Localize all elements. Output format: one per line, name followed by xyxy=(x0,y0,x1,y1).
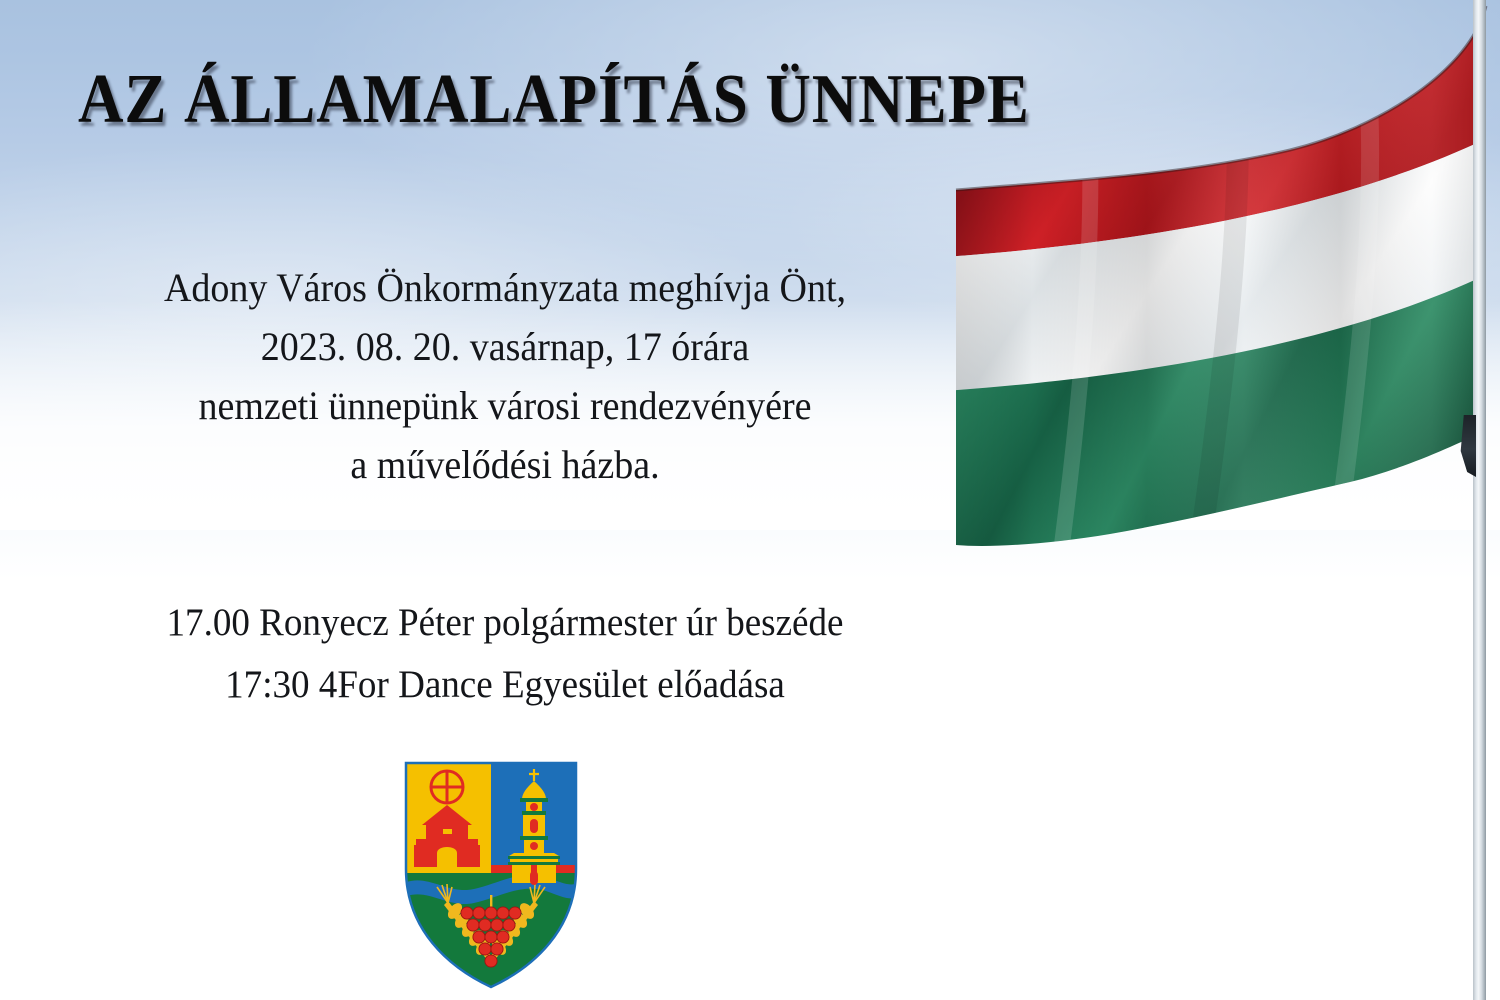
program-list: 17.00 Ronyecz Péter polgármester úr besz… xyxy=(60,592,950,716)
program-item-2: 17:30 4For Dance Egyesület előadása xyxy=(82,654,928,716)
invitation-line-3: nemzeti ünnepünk városi rendezvényére xyxy=(82,376,928,435)
wheel-cross-charge xyxy=(431,771,463,803)
adony-coat-of-arms-icon xyxy=(404,761,578,989)
invitation-line-4: a művelődési házba. xyxy=(82,435,928,494)
invitation-text: Adony Város Önkormányzata meghívja Önt, … xyxy=(60,258,950,494)
flagpole xyxy=(1473,0,1486,1000)
poster-canvas: AZ ÁLLAMALAPÍTÁS ÜNNEPE Adony Város Önko… xyxy=(0,0,1500,1000)
page-title: AZ ÁLLAMALAPÍTÁS ÜNNEPE xyxy=(78,65,852,135)
program-item-1: 17.00 Ronyecz Péter polgármester úr besz… xyxy=(82,592,928,654)
invitation-line-1: Adony Város Önkormányzata meghívja Önt, xyxy=(82,258,928,317)
invitation-line-2: 2023. 08. 20. vasárnap, 17 órára xyxy=(82,317,928,376)
